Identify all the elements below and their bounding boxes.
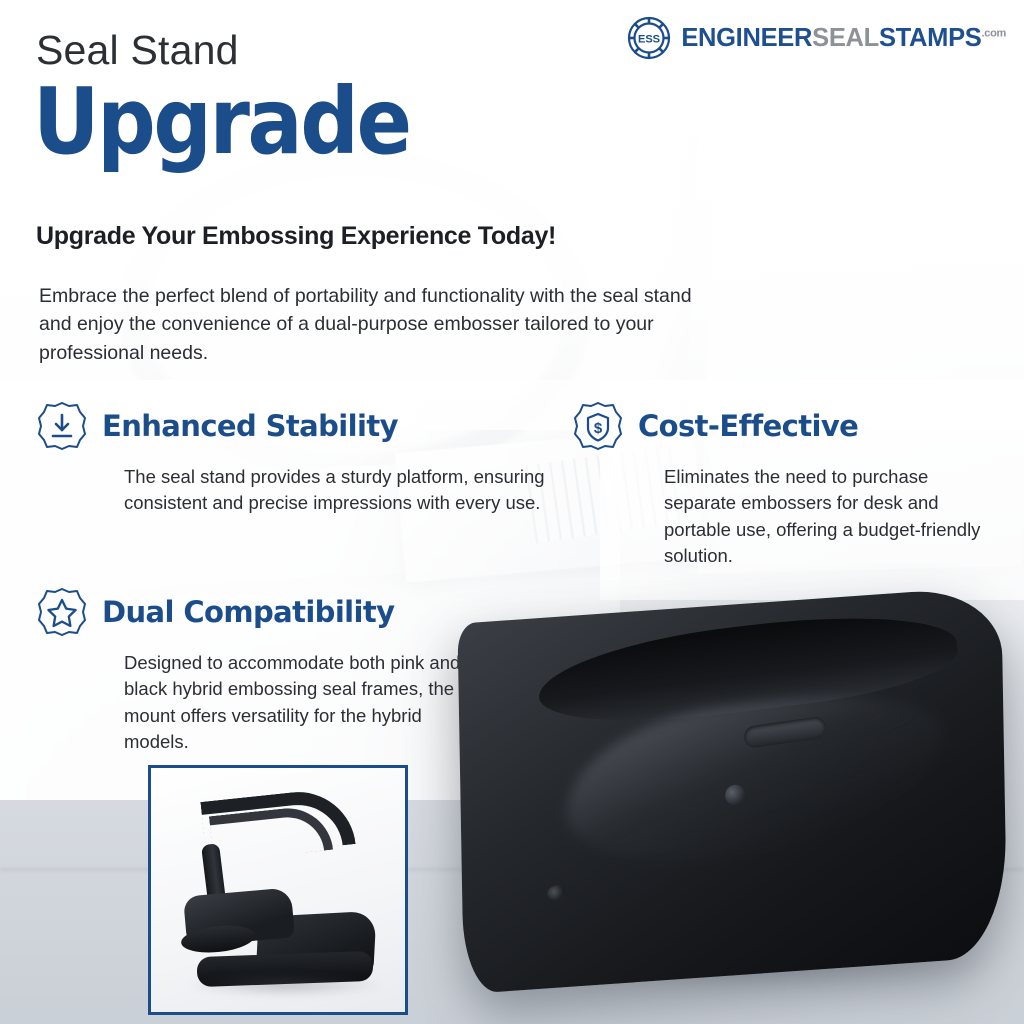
logo-wordmark: ENGINEERSEALSTAMPS.com xyxy=(681,24,1006,53)
gear-seal-icon: ESS xyxy=(627,16,671,60)
feature-title: Dual Compatibility xyxy=(102,595,394,629)
logo-badge-text: ESS xyxy=(638,34,660,46)
page-title: Upgrade xyxy=(33,77,410,169)
logo-tld: .com xyxy=(982,27,1006,39)
feature-title: Cost-Effective xyxy=(638,409,858,443)
star-badge-icon xyxy=(36,586,88,638)
infographic-page: ESS ENGINEERSEALSTAMPS.com Seal Stand Up… xyxy=(0,0,1024,1024)
download-press-badge-icon xyxy=(36,400,88,452)
inset-shadow xyxy=(185,974,385,996)
eyebrow-heading: Seal Stand xyxy=(36,27,239,74)
main-product-photo xyxy=(430,575,1024,995)
logo-word-engineer: ENGINEER xyxy=(681,24,812,52)
feature-cost-effective: $ Cost-Effective Eliminates the need to … xyxy=(572,400,1012,569)
feature-body: Eliminates the need to purchase separate… xyxy=(664,464,1004,569)
feature-body: The seal stand provides a sturdy platfor… xyxy=(124,464,564,517)
seal-stand-body xyxy=(457,586,1007,994)
inset-product-photo xyxy=(148,765,408,1015)
intro-paragraph: Embrace the perfect blend of portability… xyxy=(39,282,709,367)
shield-dollar-badge-icon: $ xyxy=(572,400,624,452)
feature-enhanced-stability: Enhanced Stability The seal stand provid… xyxy=(36,400,556,517)
logo-word-stamps: STAMPS xyxy=(879,24,982,52)
brand-logo[interactable]: ESS ENGINEERSEALSTAMPS.com xyxy=(627,16,1006,60)
feature-header: $ Cost-Effective xyxy=(572,400,1012,452)
subheading: Upgrade Your Embossing Experience Today! xyxy=(36,222,556,251)
svg-text:$: $ xyxy=(594,420,603,437)
feature-title: Enhanced Stability xyxy=(102,409,398,443)
seal-stand-vent xyxy=(546,883,567,902)
logo-word-seal: SEAL xyxy=(812,24,879,52)
feature-header: Enhanced Stability xyxy=(36,400,556,452)
